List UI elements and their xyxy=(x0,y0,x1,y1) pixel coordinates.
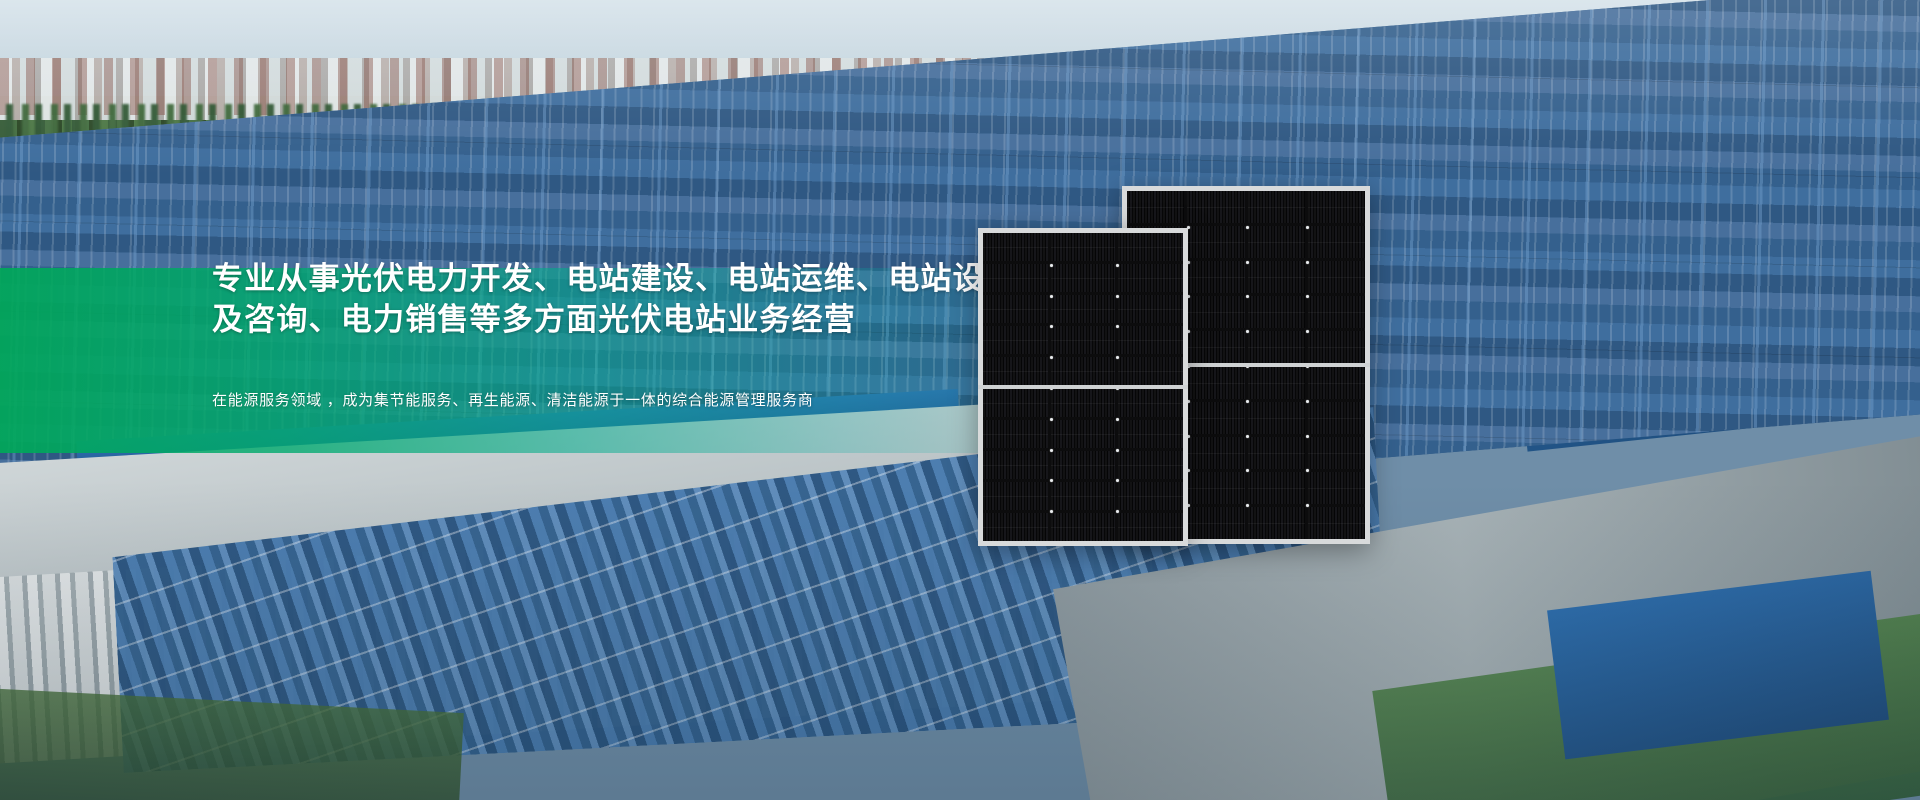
solar-cell xyxy=(1248,331,1305,363)
solar-cell xyxy=(1118,326,1183,354)
solar-cell xyxy=(1248,191,1305,223)
solar-cell xyxy=(983,420,1048,448)
solar-cell xyxy=(1118,420,1183,448)
solar-cell xyxy=(1187,366,1244,398)
solar-cell xyxy=(1118,233,1183,261)
headline-line-1: 专业从事光伏电力开发、电站建设、电站运维、电站设计 xyxy=(212,261,1017,296)
solar-cell xyxy=(1118,357,1183,385)
solar-cell xyxy=(1308,261,1365,293)
solar-cell xyxy=(1051,513,1116,541)
solar-cell xyxy=(1118,513,1183,541)
solar-cell xyxy=(1051,420,1116,448)
solar-cell xyxy=(1308,331,1365,363)
solar-cell xyxy=(1248,437,1305,469)
solar-cell xyxy=(1051,233,1116,261)
solar-cell xyxy=(983,513,1048,541)
solar-cell xyxy=(1248,366,1305,398)
solar-cell xyxy=(1187,402,1244,434)
solar-cell xyxy=(1187,437,1244,469)
solar-cell xyxy=(1308,402,1365,434)
solar-cell xyxy=(1308,226,1365,258)
solar-cell xyxy=(1248,261,1305,293)
solar-cell xyxy=(1051,295,1116,323)
solar-cell xyxy=(1248,226,1305,258)
solar-cell xyxy=(1248,507,1305,539)
solar-cell xyxy=(1051,326,1116,354)
solar-cell xyxy=(1051,357,1116,385)
solar-cell xyxy=(1248,402,1305,434)
solar-cell xyxy=(983,233,1048,261)
solar-cell xyxy=(1118,451,1183,479)
solar-cell xyxy=(1187,191,1244,223)
solar-cell xyxy=(1051,482,1116,510)
solar-cell xyxy=(1127,191,1184,223)
solar-cell xyxy=(983,451,1048,479)
solar-cell xyxy=(1248,472,1305,504)
solar-cell xyxy=(983,295,1048,323)
solar-cell xyxy=(983,389,1048,417)
solar-cell xyxy=(983,264,1048,292)
solar-cell xyxy=(1248,296,1305,328)
solar-cell xyxy=(1308,437,1365,469)
solar-panel-image-front xyxy=(978,228,1188,546)
solar-cell xyxy=(1051,451,1116,479)
solar-cell xyxy=(1187,507,1244,539)
solar-cell xyxy=(1118,482,1183,510)
solar-cell xyxy=(1051,389,1116,417)
solar-cell xyxy=(1308,296,1365,328)
solar-cell xyxy=(1118,389,1183,417)
solar-panel-front-center-busbar xyxy=(978,385,1188,389)
solar-cell xyxy=(1308,366,1365,398)
solar-cell xyxy=(1308,507,1365,539)
solar-cell xyxy=(1118,264,1183,292)
solar-cell xyxy=(1187,472,1244,504)
solar-cell xyxy=(1187,226,1244,258)
solar-cell xyxy=(1187,261,1244,293)
solar-cell xyxy=(1308,191,1365,223)
solar-cell xyxy=(983,357,1048,385)
solar-cell xyxy=(1187,296,1244,328)
solar-cell xyxy=(1051,264,1116,292)
solar-cell xyxy=(1118,295,1183,323)
solar-cell xyxy=(983,326,1048,354)
solar-cell xyxy=(983,482,1048,510)
solar-cell xyxy=(1308,472,1365,504)
solar-cell xyxy=(1187,331,1244,363)
hero-banner: 专业从事光伏电力开发、电站建设、电站运维、电站设计 及咨询、电力销售等多方面光伏… xyxy=(0,0,1920,800)
